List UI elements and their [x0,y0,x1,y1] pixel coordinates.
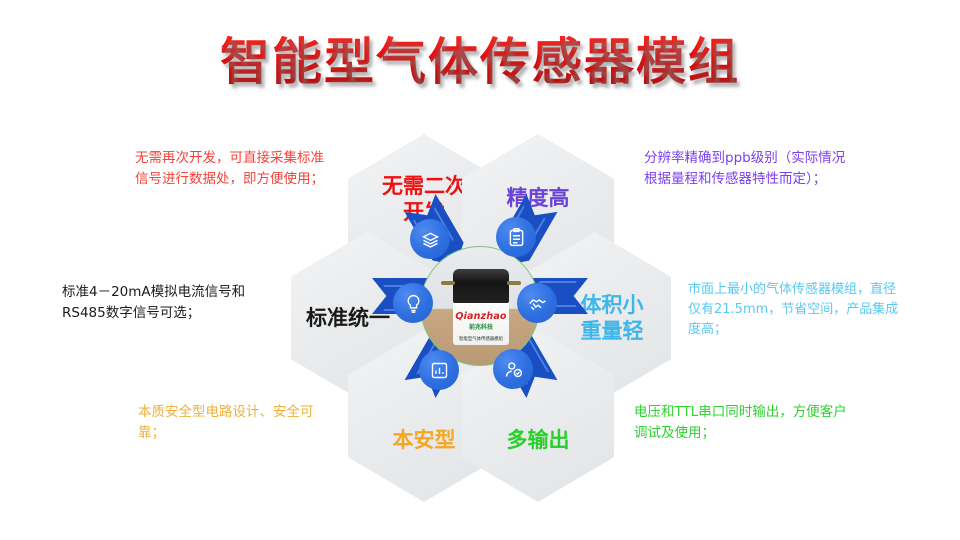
brand-name-en: Qianzhao [453,311,509,322]
note-no-secondary-dev: 无需再次开发，可直接采集标准信号进行数据处，即方便使用； [132,148,327,189]
bar-chart-icon[interactable] [419,350,459,390]
handshake-icon[interactable] [517,283,557,323]
hexagon-label: 多输出 [507,379,570,453]
lightbulb-icon[interactable] [393,283,433,323]
note-small-light: 市面上最小的气体传感器模组，直径仅有21.5mm，节省空间，产品集成度高； [688,280,906,339]
note-multi-output: 电压和TTL串口同时输出，方便客户调试及使用； [634,402,849,443]
note-high-accuracy: 分辨率精确到ppb级别（实际情况根据量程和传感器特性而定）； [644,148,849,189]
brand-name-cn: 前兆科技 [453,322,509,331]
clipboard-icon[interactable] [496,217,536,257]
slide-canvas: 智能型气体传感器模组 无需二次 开发 精度高 标准统一 体积小 重量轻 本安型 … [0,0,960,540]
sensor-pin-right [507,281,521,285]
layers-icon[interactable] [410,219,450,259]
page-title: 智能型气体传感器模组 [0,22,960,94]
sensor-label: Qianzhao 前兆科技 智能型气体传感器模组 [453,303,509,345]
sensor-cap [453,269,509,303]
user-check-icon[interactable] [493,349,533,389]
note-unified-standard: 标准4－20mA模拟电流信号和RS485数字信号可选； [62,282,277,323]
product-model-text: 智能型气体传感器模组 [453,336,509,342]
hexagon-label: 本安型 [393,379,456,453]
sensor-module-body: Qianzhao 前兆科技 智能型气体传感器模组 [453,269,509,345]
note-intrinsic-safe: 本质安全型电路设计、安全可靠； [138,402,338,443]
sensor-pin-left [441,281,455,285]
